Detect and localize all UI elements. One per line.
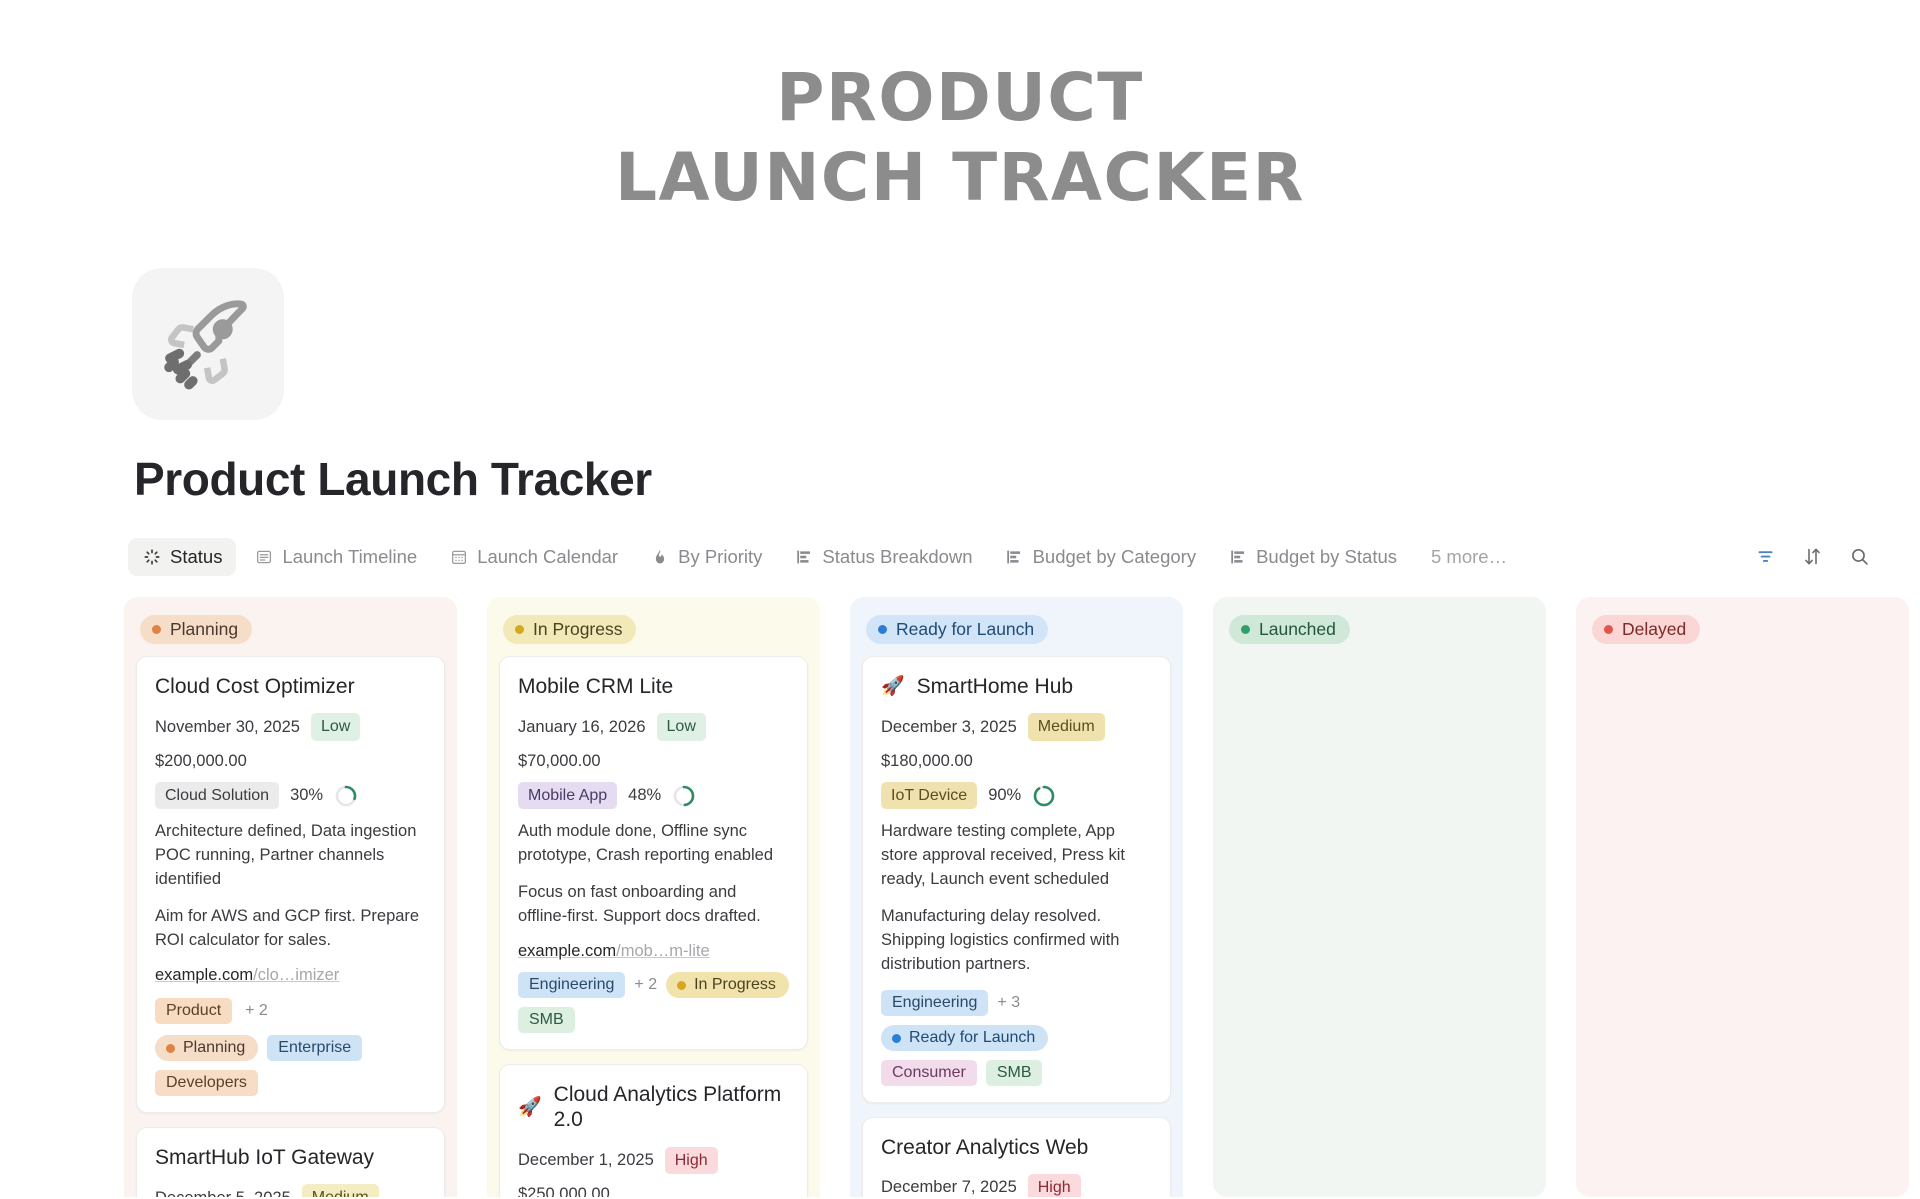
card-tag[interactable]: Consumer [881,1060,977,1086]
card-meta-row-2: Cloud Solution30% [155,782,426,810]
tab-more-button[interactable]: 5 more… [1421,538,1517,576]
timeline-list-icon [254,547,273,566]
tag-overflow-count[interactable]: + 2 [634,976,657,994]
card-description-secondary: Aim for AWS and GCP first. Prepare ROI c… [155,905,426,953]
status-dot-icon [892,1034,901,1043]
kanban-column-delayed: Delayed [1576,597,1909,1197]
card-title-text: Creator Analytics Web [881,1135,1088,1160]
priority-badge[interactable]: Low [657,713,706,741]
card-tag[interactable]: Developers [155,1070,258,1096]
card-link-path: /mob…m-lite [616,942,710,960]
card-tag-row: Engineering+ 2In ProgressSMB [518,972,789,1033]
card-title: Cloud Cost Optimizer [155,674,426,699]
card-tag[interactable]: Engineering [518,972,625,998]
card-date: December 7, 2025 [881,1178,1017,1196]
card-link-row: example.com/mob…m-lite [518,942,789,961]
card-budget: $200,000.00 [155,752,247,771]
card-date: December 1, 2025 [518,1151,654,1170]
card-tag-label: Ready for Launch [909,1029,1035,1047]
tab-label: Launch Calendar [477,546,618,568]
status-dot-icon [166,1044,175,1053]
tab-budget-by-category[interactable]: Budget by Category [991,538,1211,576]
status-dot-icon [1604,625,1613,634]
view-tab-bar: Status Launch Timeline Launch Calend [0,533,1920,581]
status-dot-icon [152,625,161,634]
card-tag-label: Enterprise [278,1039,351,1056]
card-date: December 3, 2025 [881,718,1017,737]
category-badge[interactable]: Cloud Solution [155,782,279,810]
priority-badge[interactable]: Low [311,713,360,741]
card-budget: $250,000.00 [518,1185,610,1196]
tab-budget-by-status[interactable]: Budget by Status [1214,538,1411,576]
card-title: Mobile CRM Lite [518,674,789,699]
card-tag-label: Engineering [892,994,977,1011]
card-tag[interactable]: In Progress [666,972,789,998]
priority-badge[interactable]: Medium [302,1184,379,1196]
column-status-chip[interactable]: Ready for Launch [866,615,1048,645]
card-meta-row-1: November 30, 2025Low$200,000.00 [155,713,426,771]
priority-badge[interactable]: Medium [1028,713,1105,741]
progress-label: 48% [628,786,661,805]
card-meta-row-1: December 5, 2025Medium$180,000.00 [155,1184,426,1196]
filter-icon[interactable] [1755,546,1776,567]
card-budget: $180,000.00 [881,752,973,771]
card-date: January 16, 2026 [518,718,646,737]
card-link-row: example.com/clo…imizerProduct+ 2 [155,966,426,1024]
column-label: In Progress [533,621,622,639]
card-meta-row-1: December 3, 2025Medium$180,000.00 [881,713,1152,771]
card-title: 🚀SmartHome Hub [881,674,1152,699]
tab-status[interactable]: Status [128,538,236,576]
tab-label: Budget by Status [1256,546,1397,568]
kanban-column-launched: Launched [1213,597,1546,1197]
category-badge[interactable]: IoT Device [881,782,977,810]
task-card[interactable]: SmartHub IoT GatewayDecember 5, 2025Medi… [136,1127,445,1197]
card-title-text: Cloud Analytics Platform 2.0 [554,1082,789,1132]
card-meta-row-1: December 1, 2025High$250,000.00 [518,1147,789,1197]
card-link-path: /clo…imizer [253,966,339,984]
card-description-primary: Auth module done, Offline sync prototype… [518,820,789,868]
column-status-chip[interactable]: Delayed [1592,615,1700,645]
column-status-chip[interactable]: Planning [140,615,252,645]
rocket-icon [132,268,284,420]
progress-label: 90% [988,786,1021,805]
tab-launch-timeline[interactable]: Launch Timeline [240,538,431,576]
page-title: Product Launch Tracker [134,454,1920,505]
rocket-icon: 🚀 [518,1098,542,1117]
card-title: 🚀Cloud Analytics Platform 2.0 [518,1082,789,1132]
card-tag[interactable]: Planning [155,1035,258,1061]
priority-badge[interactable]: High [665,1147,718,1175]
bar-chart-icon [1005,547,1024,566]
bar-chart-icon [1228,547,1247,566]
tab-status-breakdown[interactable]: Status Breakdown [780,538,986,576]
card-title: SmartHub IoT Gateway [155,1145,426,1170]
status-dot-icon [677,981,686,990]
bar-chart-icon [794,547,813,566]
column-header: Launched [1229,615,1534,645]
task-card[interactable]: Creator Analytics WebDecember 7, 2025Hig… [862,1117,1171,1197]
column-label: Ready for Launch [896,621,1034,639]
status-dot-icon [878,625,887,634]
card-link[interactable]: example.com/mob…m-lite [518,942,710,961]
card-title-text: Mobile CRM Lite [518,674,673,699]
task-card[interactable]: 🚀Cloud Analytics Platform 2.0December 1,… [499,1064,808,1196]
card-tag-label: Consumer [892,1064,966,1081]
column-status-chip[interactable]: In Progress [503,615,636,645]
card-title: Creator Analytics Web [881,1135,1152,1160]
card-meta-row-1: December 7, 2025High$120,000.00 [881,1174,1152,1196]
status-dot-icon [515,625,524,634]
column-header: Delayed [1592,615,1897,645]
sort-icon[interactable] [1802,546,1823,567]
column-header: Planning [140,615,445,645]
card-title-text: SmartHome Hub [917,674,1073,699]
column-header: In Progress [503,615,808,645]
category-badge[interactable]: Mobile App [518,782,617,810]
card-meta-row-2: IoT Device90% [881,782,1152,810]
card-tag-row: PlanningEnterpriseDevelopers [155,1035,426,1096]
card-description-primary: Architecture defined, Data ingestion POC… [155,820,426,892]
tab-label: Status Breakdown [822,546,972,568]
banner-line-2: LAUNCH TRACKER [615,145,1305,211]
card-link-overflow-count[interactable]: + 2 [245,1002,268,1020]
tab-by-priority[interactable]: By Priority [636,538,776,576]
column-label: Delayed [1622,621,1686,639]
kanban-column-in-progress: In ProgressMobile CRM LiteJanuary 16, 20… [487,597,820,1197]
board-toolbar [1755,546,1882,567]
column-status-chip[interactable]: Launched [1229,615,1350,645]
card-tag-row: Engineering+ 3Ready for LaunchConsumerSM… [881,990,1152,1086]
card-budget: $70,000.00 [518,752,601,771]
card-tag-label: Engineering [529,976,614,993]
card-description-secondary: Focus on fast onboarding and offline-fir… [518,881,789,929]
card-tag-label: In Progress [694,976,776,994]
document-header: Product Launch Tracker [0,268,1920,505]
card-date: December 5, 2025 [155,1189,291,1197]
card-tag-label: SMB [529,1011,564,1028]
column-label: Launched [1259,621,1336,639]
kanban-board: PlanningCloud Cost OptimizerNovember 30,… [0,597,1920,1197]
card-title-text: Cloud Cost Optimizer [155,674,355,699]
task-card[interactable]: Mobile CRM LiteJanuary 16, 2026Low$70,00… [499,656,808,1050]
tab-label: Budget by Category [1033,546,1197,568]
status-dot-icon [1241,625,1250,634]
kanban-column-ready-for-launch: Ready for Launch🚀SmartHome HubDecember 3… [850,597,1183,1197]
status-spinner-icon [142,547,161,566]
progress-ring [334,784,358,808]
tab-label: Launch Timeline [282,546,417,568]
tab-launch-calendar[interactable]: Launch Calendar [435,538,632,576]
card-meta-row-2: Mobile App48% [518,782,789,810]
card-tag-label: Planning [183,1039,245,1057]
rocket-icon: 🚀 [881,677,905,696]
card-title-text: SmartHub IoT Gateway [155,1145,374,1170]
card-tag[interactable]: Ready for Launch [881,1025,1048,1051]
task-card[interactable]: 🚀SmartHome HubDecember 3, 2025Medium$180… [862,656,1171,1103]
tab-label: Status [170,546,222,568]
task-card[interactable]: Cloud Cost OptimizerNovember 30, 2025Low… [136,656,445,1113]
calendar-icon [449,547,468,566]
card-tag-label: Developers [166,1074,247,1091]
progress-ring [1032,784,1056,808]
card-tag[interactable]: SMB [518,1007,575,1033]
card-link-tag[interactable]: Product [155,998,232,1024]
kanban-column-planning: PlanningCloud Cost OptimizerNovember 30,… [124,597,457,1197]
column-label: Planning [170,621,238,639]
card-date: November 30, 2025 [155,718,300,737]
tab-label: By Priority [678,546,762,568]
column-header: Ready for Launch [866,615,1171,645]
card-tag[interactable]: Engineering [881,990,988,1016]
search-icon[interactable] [1849,546,1870,567]
hero-banner: PRODUCT LAUNCH TRACKER [0,0,1920,268]
banner-line-1: PRODUCT [776,65,1144,131]
card-link[interactable]: example.com/clo…imizer [155,966,339,985]
flame-icon [650,547,669,566]
card-tag[interactable]: Enterprise [267,1035,362,1061]
priority-badge[interactable]: High [1028,1174,1081,1196]
tag-overflow-count[interactable]: + 3 [997,994,1020,1012]
progress-ring [672,784,696,808]
card-description-secondary: Manufacturing delay resolved. Shipping l… [881,905,1152,977]
card-tag-label: SMB [997,1064,1032,1081]
card-meta-row-1: January 16, 2026Low$70,000.00 [518,713,789,771]
tab-list: Status Launch Timeline Launch Calend [128,538,1755,576]
card-tag[interactable]: SMB [986,1060,1043,1086]
card-description-primary: Hardware testing complete, App store app… [881,820,1152,892]
progress-label: 30% [290,786,323,805]
